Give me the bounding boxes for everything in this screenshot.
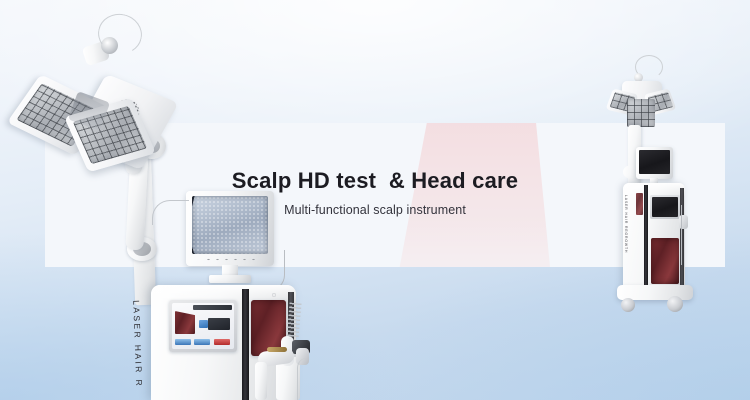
touchscreen-button-blue-2[interactable] xyxy=(194,339,210,345)
left-accessory-gold-ring xyxy=(267,347,287,352)
right-machine-caster-right xyxy=(667,296,683,312)
left-console-status-light xyxy=(272,293,276,297)
touchscreen-titlebar xyxy=(193,305,232,310)
right-console-maroon-panel xyxy=(651,238,679,284)
headline-block: Scalp HD test & Head care Multi-function… xyxy=(0,168,750,217)
left-machine-brand-text: LASER HAIR R xyxy=(131,300,144,388)
left-monitor-buttons[interactable] xyxy=(204,257,256,262)
left-console-seam-left xyxy=(242,289,249,400)
left-accessory-cord xyxy=(297,358,314,400)
touchscreen-button-blue-1[interactable] xyxy=(175,339,191,345)
left-accessory-tube xyxy=(255,362,267,400)
left-monitor-stand-base xyxy=(209,275,251,283)
product-banner: LASER HAIR R xyxy=(0,0,750,400)
page-title: Scalp HD test & Head care xyxy=(0,168,750,194)
right-laser-hood-center-led-panel xyxy=(627,99,655,127)
page-subtitle: Multi-functional scalp instrument xyxy=(0,203,750,217)
left-accessory-comb-icon xyxy=(286,303,301,340)
touchscreen-button-red[interactable] xyxy=(214,339,230,345)
touchscreen-result-badge xyxy=(199,320,208,328)
touchscreen-image-panel xyxy=(175,311,195,334)
right-machine-caster-left xyxy=(621,298,635,312)
left-console-touchscreen[interactable] xyxy=(172,303,234,349)
touchscreen-result-box xyxy=(208,318,230,330)
